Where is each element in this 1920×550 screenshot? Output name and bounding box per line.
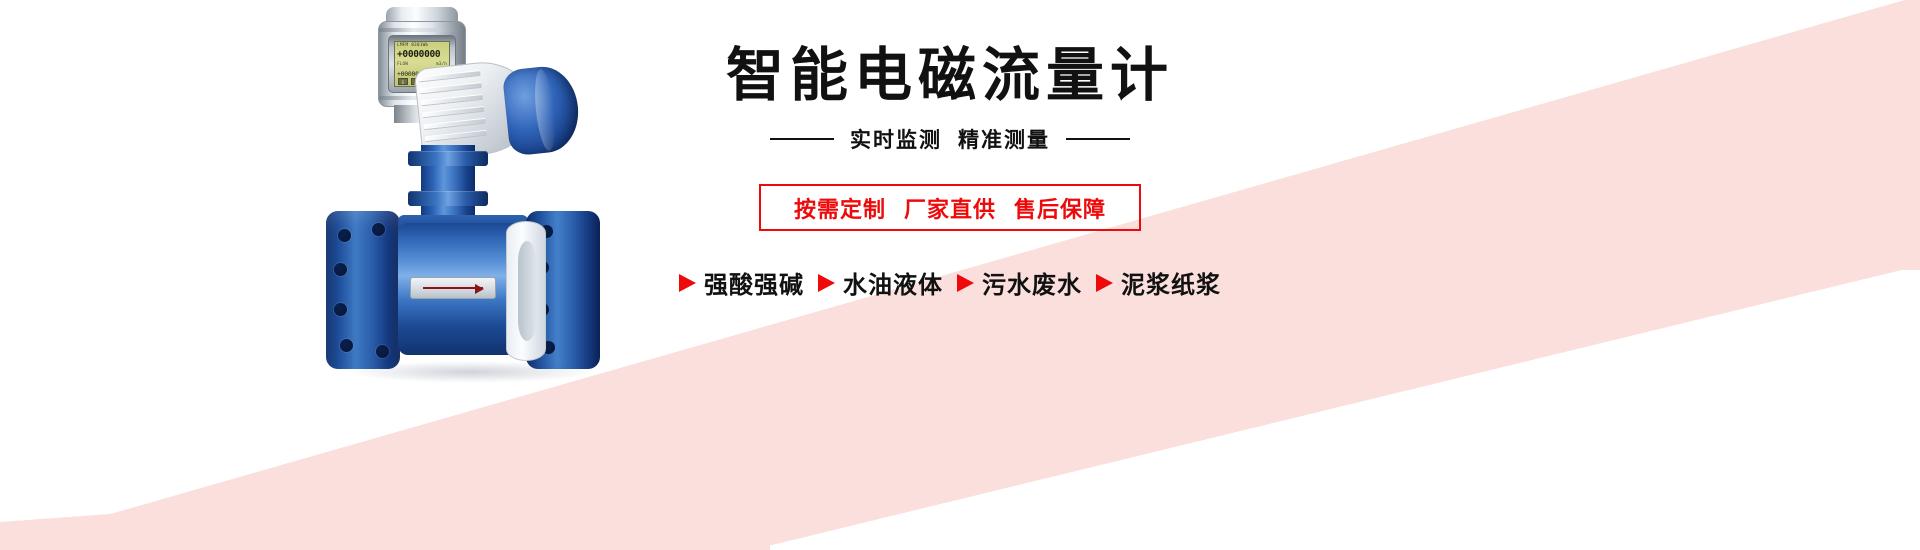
feature-label: 污水废水 — [982, 265, 1082, 300]
banner-text-block: 智能电磁流量计 实时监测 精准测量 按需定制 厂家直供 售后保障 强酸强碱 水油… — [640, 40, 1260, 300]
flow-direction-arrow-icon — [423, 287, 483, 289]
feature-label: 水油液体 — [843, 265, 943, 300]
lcd-key-e: E — [398, 78, 408, 85]
triangle-right-icon — [818, 274, 835, 292]
product-hero-banner: LMFM 8301Wb +0000000 FLOW m3/h +00000000… — [0, 0, 1920, 550]
highlight-item-2: 厂家直供 — [904, 192, 996, 224]
triangle-right-icon — [1096, 274, 1113, 292]
neck-flange-bottom — [408, 191, 488, 206]
neck-flange-top — [408, 151, 488, 166]
feature-label: 强酸强碱 — [704, 265, 804, 300]
feature-item: 水油液体 — [818, 265, 943, 300]
subtitle-rule-right — [1066, 138, 1130, 140]
lcd-unit-left: FLOW — [397, 62, 408, 67]
feature-item: 强酸强碱 — [679, 265, 804, 300]
pipe-liner-inner — [518, 241, 536, 341]
flange-left — [326, 211, 400, 369]
feature-list: 强酸强碱 水油液体 污水废水 泥浆纸浆 — [640, 265, 1260, 300]
diagonal-white-wedge — [770, 270, 1920, 550]
feature-item: 污水废水 — [957, 265, 1082, 300]
subtitle-left: 实时监测 — [850, 124, 942, 154]
subtitle-rule-left — [770, 138, 834, 140]
page-title: 智能电磁流量计 — [640, 40, 1260, 110]
product-image-flowmeter: LMFM 8301Wb +0000000 FLOW m3/h +00000000… — [290, 5, 630, 400]
highlight-item-1: 按需定制 — [794, 192, 886, 224]
subtitle-row: 实时监测 精准测量 — [640, 124, 1260, 154]
lcd-main-value: +0000000 — [397, 50, 447, 60]
feature-label: 泥浆纸浆 — [1121, 265, 1221, 300]
highlight-box: 按需定制 厂家直供 售后保障 — [759, 184, 1141, 231]
triangle-right-icon — [957, 274, 974, 292]
highlight-item-3: 售后保障 — [1014, 192, 1106, 224]
subtitle-right: 精准测量 — [958, 124, 1050, 154]
lcd-header: LMFM 8301Wb — [397, 43, 428, 48]
flow-direction-plate — [410, 277, 496, 299]
feature-item: 泥浆纸浆 — [1096, 265, 1221, 300]
triangle-right-icon — [679, 274, 696, 292]
diagonal-accent-band-lower — [0, 410, 1920, 550]
junction-fins — [418, 64, 490, 154]
product-ground-shadow — [346, 361, 596, 383]
